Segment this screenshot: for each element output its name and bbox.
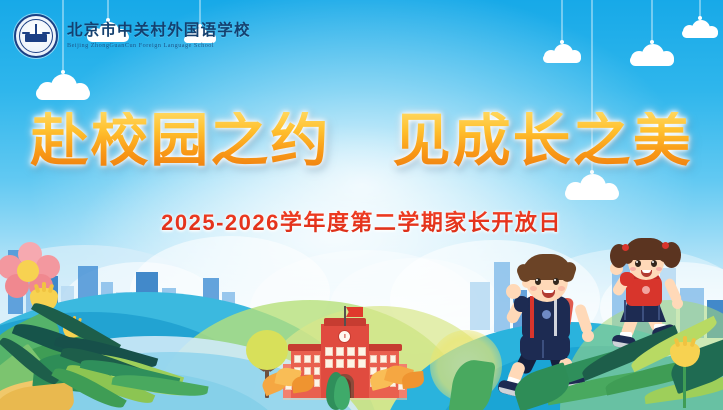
school-name-en: Beijing ZhongGuanCun Foreign Language Sc… xyxy=(67,42,251,49)
page-title: 赴校园之约 见成长之美 xyxy=(0,112,723,170)
title-part-2: 见成长之美 xyxy=(393,112,693,170)
clock-icon xyxy=(338,330,351,343)
event-banner: 北京市中关村外国语学校 Beijing ZhongGuanCun Foreign… xyxy=(0,0,723,410)
event-subtitle: 2025-2026学年度第二学期家长开放日 xyxy=(0,205,723,237)
red-flag-icon xyxy=(346,307,363,317)
title-part-1: 赴校园之约 xyxy=(30,112,330,170)
school-crest-icon xyxy=(14,14,58,58)
school-name-cn: 北京市中关村外国语学校 xyxy=(67,23,251,39)
school-name-block: 北京市中关村外国语学校 Beijing ZhongGuanCun Foreign… xyxy=(67,23,251,49)
right-foliage xyxy=(520,330,723,410)
flagpole xyxy=(344,306,346,326)
brand-header: 北京市中关村外国语学校 Beijing ZhongGuanCun Foreign… xyxy=(14,14,251,58)
